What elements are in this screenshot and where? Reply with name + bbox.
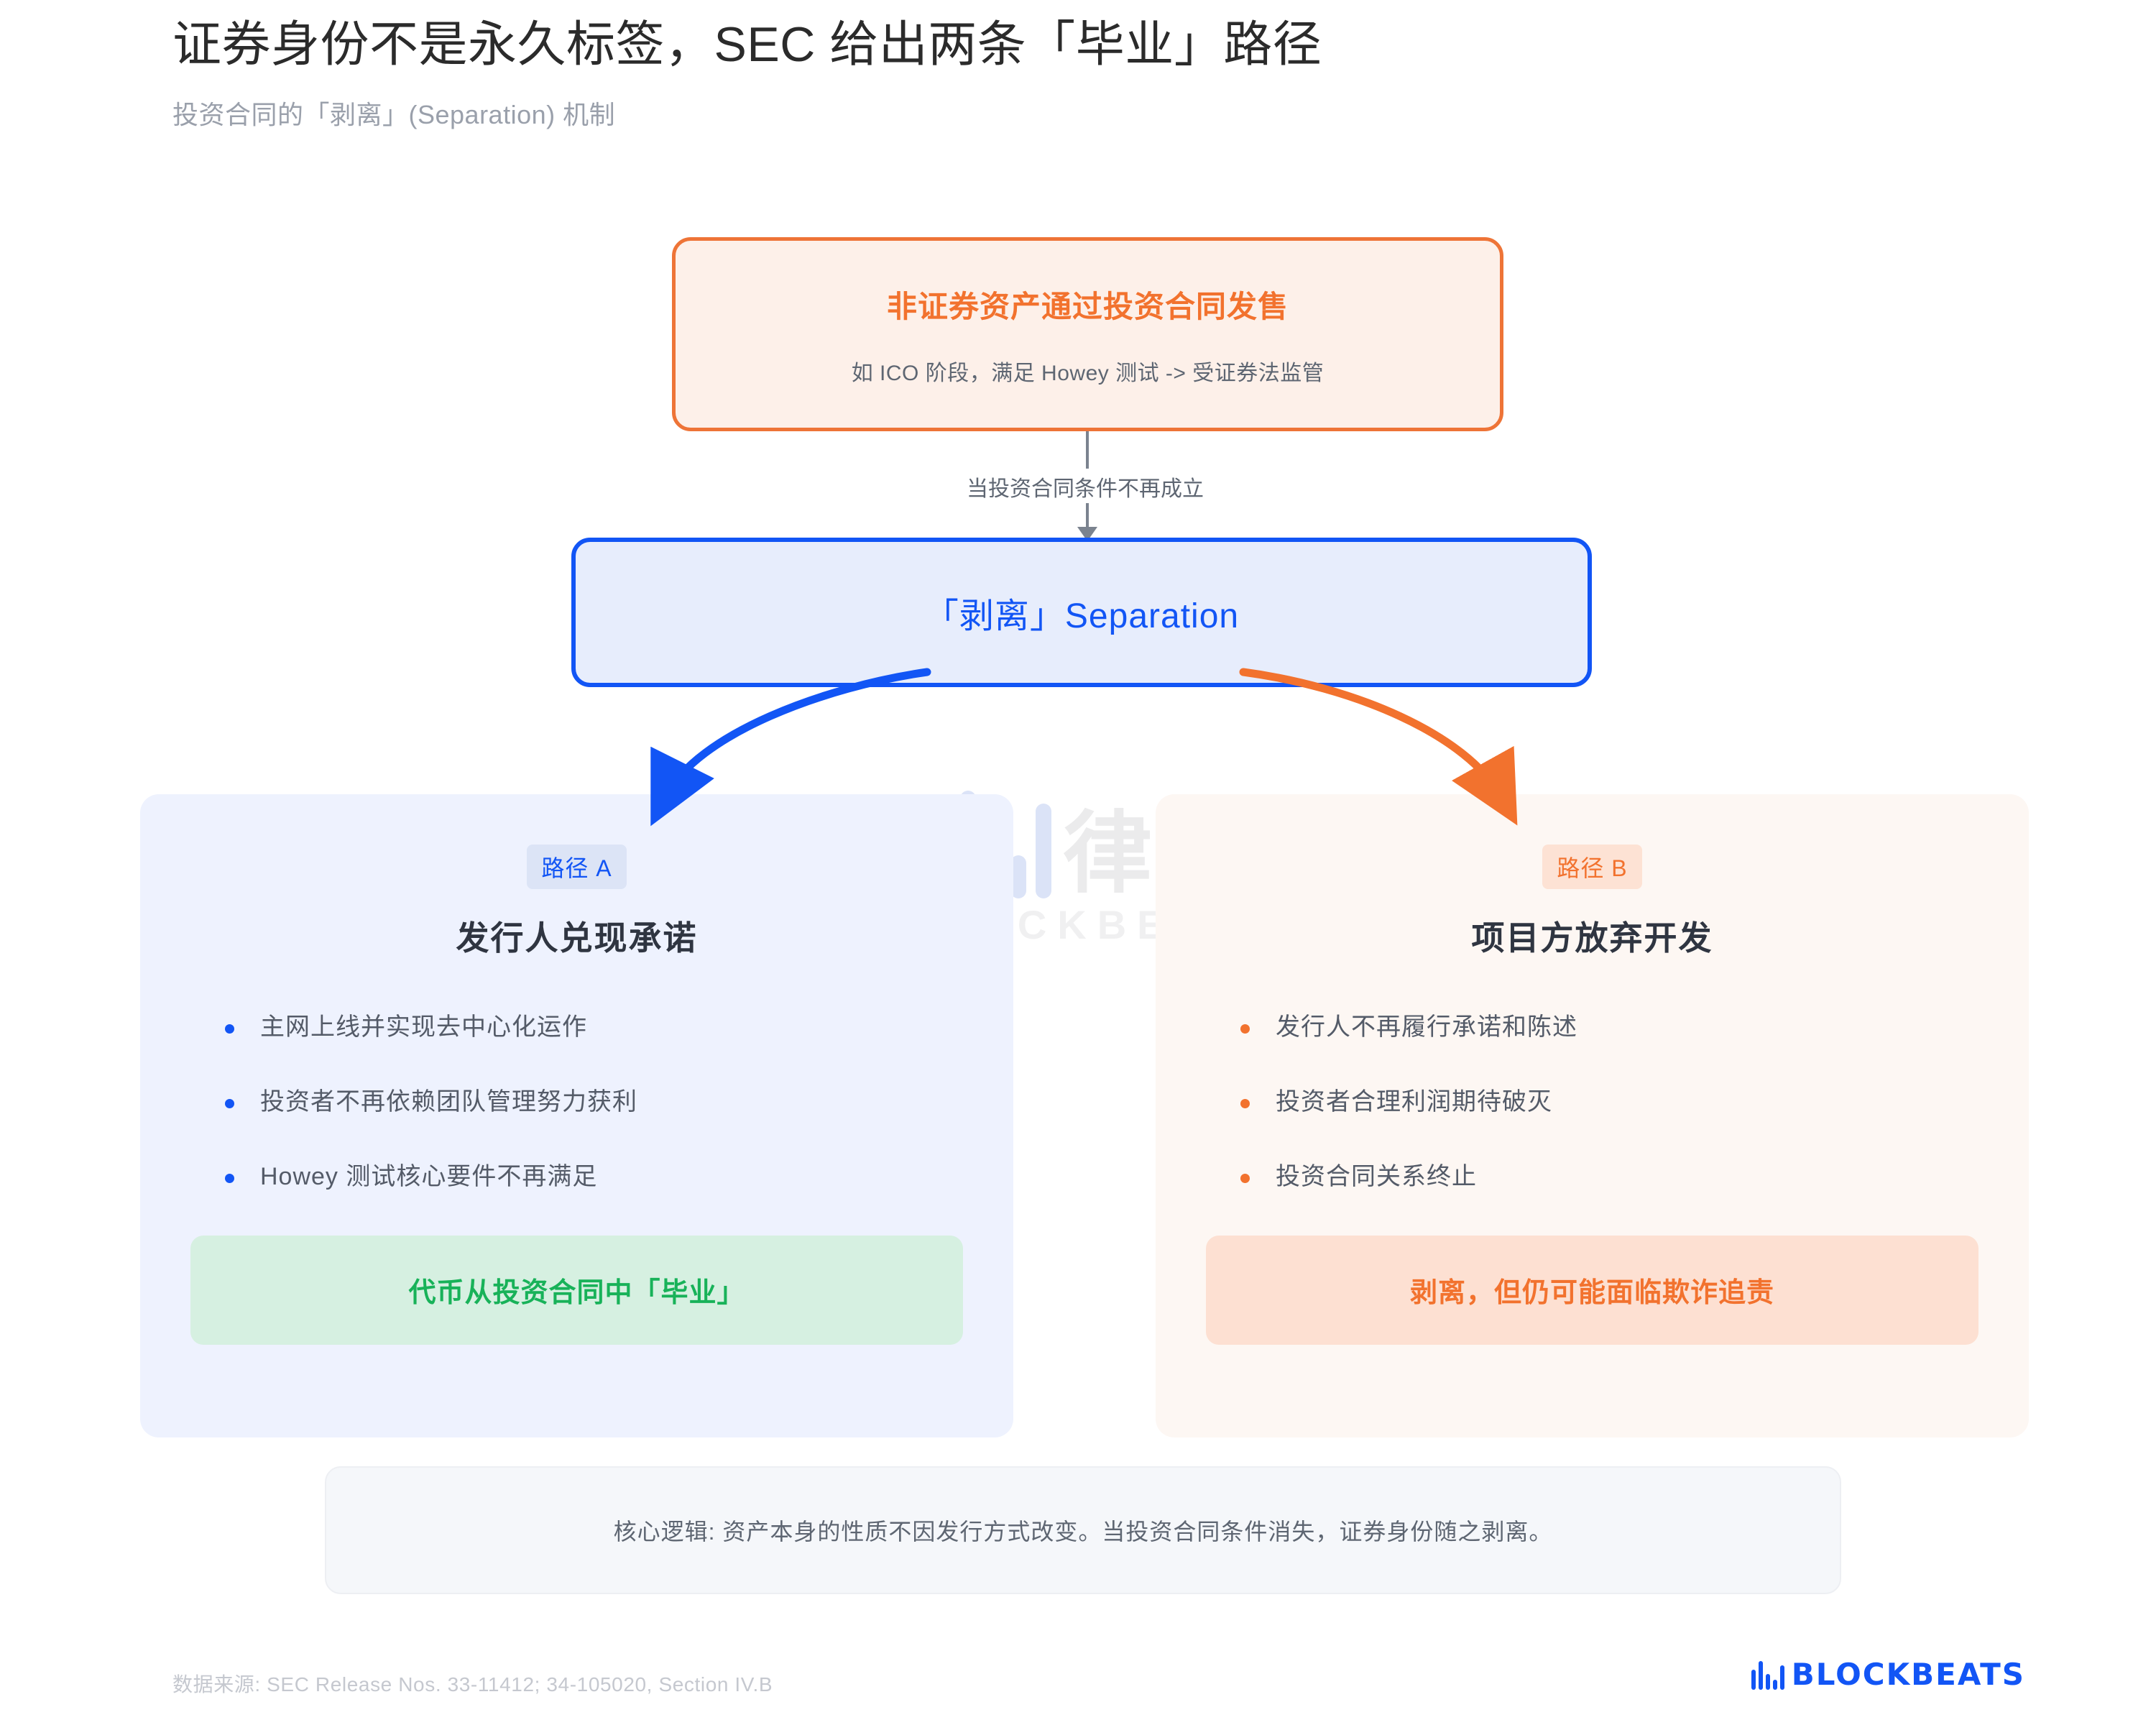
path-a-bullets: 主网上线并实现去中心化运作 投资者不再依赖团队管理努力获利 Howey 测试核心…	[190, 1011, 963, 1194]
summary-text: 核心逻辑: 资产本身的性质不因发行方式改变。当投资合同条件消失，证券身份随之剥离…	[614, 1514, 1553, 1547]
list-item: 主网上线并实现去中心化运作	[212, 1011, 941, 1044]
bullet-dot-icon	[1240, 1174, 1250, 1183]
path-b-bullets: 发行人不再履行承诺和陈述 投资者合理利润期待破灭 投资合同关系终止	[1206, 1011, 1978, 1194]
arrow-to-path-a	[665, 672, 927, 798]
logo-bars-icon	[1751, 1660, 1784, 1690]
path-card-a: 路径 A 发行人兑现承诺 主网上线并实现去中心化运作 投资者不再依赖团队管理努力…	[140, 794, 1013, 1437]
header: 证券身份不是永久标签，SEC 给出两条「毕业」路径 投资合同的「剥离」(Sepa…	[172, 14, 1322, 132]
list-item: 发行人不再履行承诺和陈述	[1227, 1011, 1957, 1044]
list-item: Howey 测试核心要件不再满足	[212, 1161, 941, 1194]
node-non-security-offering: 非证券资产通过投资合同发售 如 ICO 阶段，满足 Howey 测试 -> 受证…	[672, 237, 1503, 431]
blockbeats-logo: BLOCKBEATS	[1751, 1657, 2025, 1692]
path-b-badge: 路径 B	[1542, 845, 1641, 889]
bullet-dot-icon	[1240, 1099, 1250, 1108]
logo-text: BLOCKBEATS	[1792, 1657, 2025, 1692]
summary-box: 核心逻辑: 资产本身的性质不因发行方式改变。当投资合同条件消失，证券身份随之剥离…	[325, 1466, 1841, 1594]
connector-label: 当投资合同条件不再成立	[791, 471, 1380, 502]
infographic-page: 证券身份不是永久标签，SEC 给出两条「毕业」路径 投资合同的「剥离」(Sepa…	[0, 0, 2156, 1725]
connector-line-upper	[1086, 431, 1089, 469]
list-item-label: 发行人不再履行承诺和陈述	[1276, 1011, 1577, 1044]
page-subtitle: 投资合同的「剥离」(Separation) 机制	[172, 94, 1322, 132]
bullet-dot-icon	[1240, 1024, 1250, 1034]
bullet-dot-icon	[225, 1099, 234, 1108]
list-item: 投资者合理利润期待破灭	[1227, 1086, 1957, 1119]
badge-wrap: 路径 A	[190, 845, 963, 889]
list-item: 投资者不再依赖团队管理努力获利	[212, 1086, 941, 1119]
node-title: 「剥离」Separation	[924, 587, 1239, 638]
node-separation: 「剥离」Separation	[571, 538, 1592, 687]
badge-wrap: 路径 B	[1206, 845, 1978, 889]
bullet-dot-icon	[225, 1024, 234, 1034]
path-b-title: 项目方放弃开发	[1206, 912, 1978, 960]
bullet-dot-icon	[225, 1174, 234, 1183]
list-item-label: 投资者不再依赖团队管理努力获利	[260, 1086, 637, 1119]
path-a-title: 发行人兑现承诺	[190, 912, 963, 960]
node-description: 如 ICO 阶段，满足 Howey 测试 -> 受证券法监管	[852, 355, 1325, 387]
path-a-badge: 路径 A	[527, 845, 626, 889]
list-item-label: 主网上线并实现去中心化运作	[260, 1011, 587, 1044]
list-item: 投资合同关系终止	[1227, 1161, 1957, 1194]
list-item-label: 投资者合理利润期待破灭	[1276, 1086, 1552, 1119]
source-note: 数据来源: SEC Release Nos. 33-11412; 34-1050…	[172, 1669, 773, 1698]
list-item-label: 投资合同关系终止	[1276, 1161, 1477, 1194]
path-a-result: 代币从投资合同中「毕业」	[190, 1236, 963, 1345]
path-b-result: 剥离，但仍可能面临欺诈追责	[1206, 1236, 1978, 1345]
page-title: 证券身份不是永久标签，SEC 给出两条「毕业」路径	[172, 14, 1322, 75]
node-title: 非证券资产通过投资合同发售	[887, 282, 1289, 326]
arrow-to-path-b	[1243, 672, 1502, 798]
list-item-label: Howey 测试核心要件不再满足	[260, 1161, 597, 1194]
path-card-b: 路径 B 项目方放弃开发 发行人不再履行承诺和陈述 投资者合理利润期待破灭 投资…	[1156, 794, 2029, 1437]
